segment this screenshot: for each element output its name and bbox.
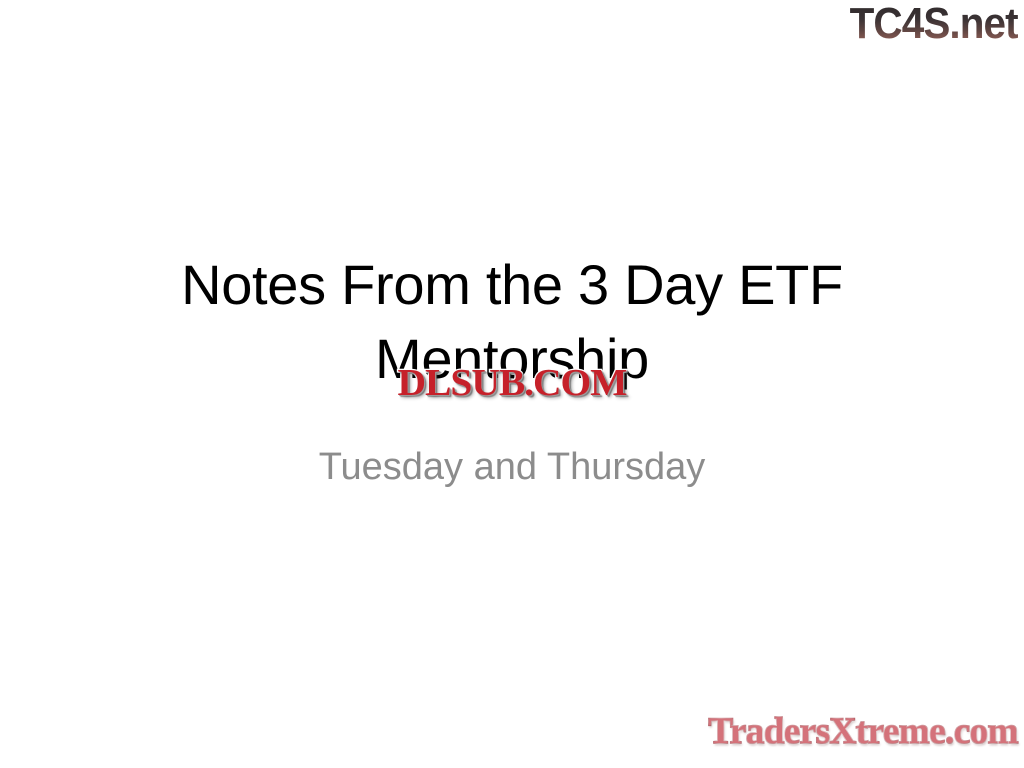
dlsub-watermark-text: DLSUB.COM xyxy=(398,363,627,403)
tc4s-site-logo: TC4S.net xyxy=(850,2,1018,46)
presentation-slide: TC4S.net Notes From the 3 Day ETF Mentor… xyxy=(0,0,1024,768)
page-subtitle: Tuesday and Thursday xyxy=(0,443,1024,491)
dlsub-watermark: DLSUB.COM xyxy=(402,363,622,403)
subtitle-block: Tuesday and Thursday xyxy=(0,443,1024,491)
tradersxtreme-watermark: TradersXtreme.com xyxy=(708,712,1018,752)
page-title-line-1: Notes From the 3 Day ETF xyxy=(181,253,843,316)
